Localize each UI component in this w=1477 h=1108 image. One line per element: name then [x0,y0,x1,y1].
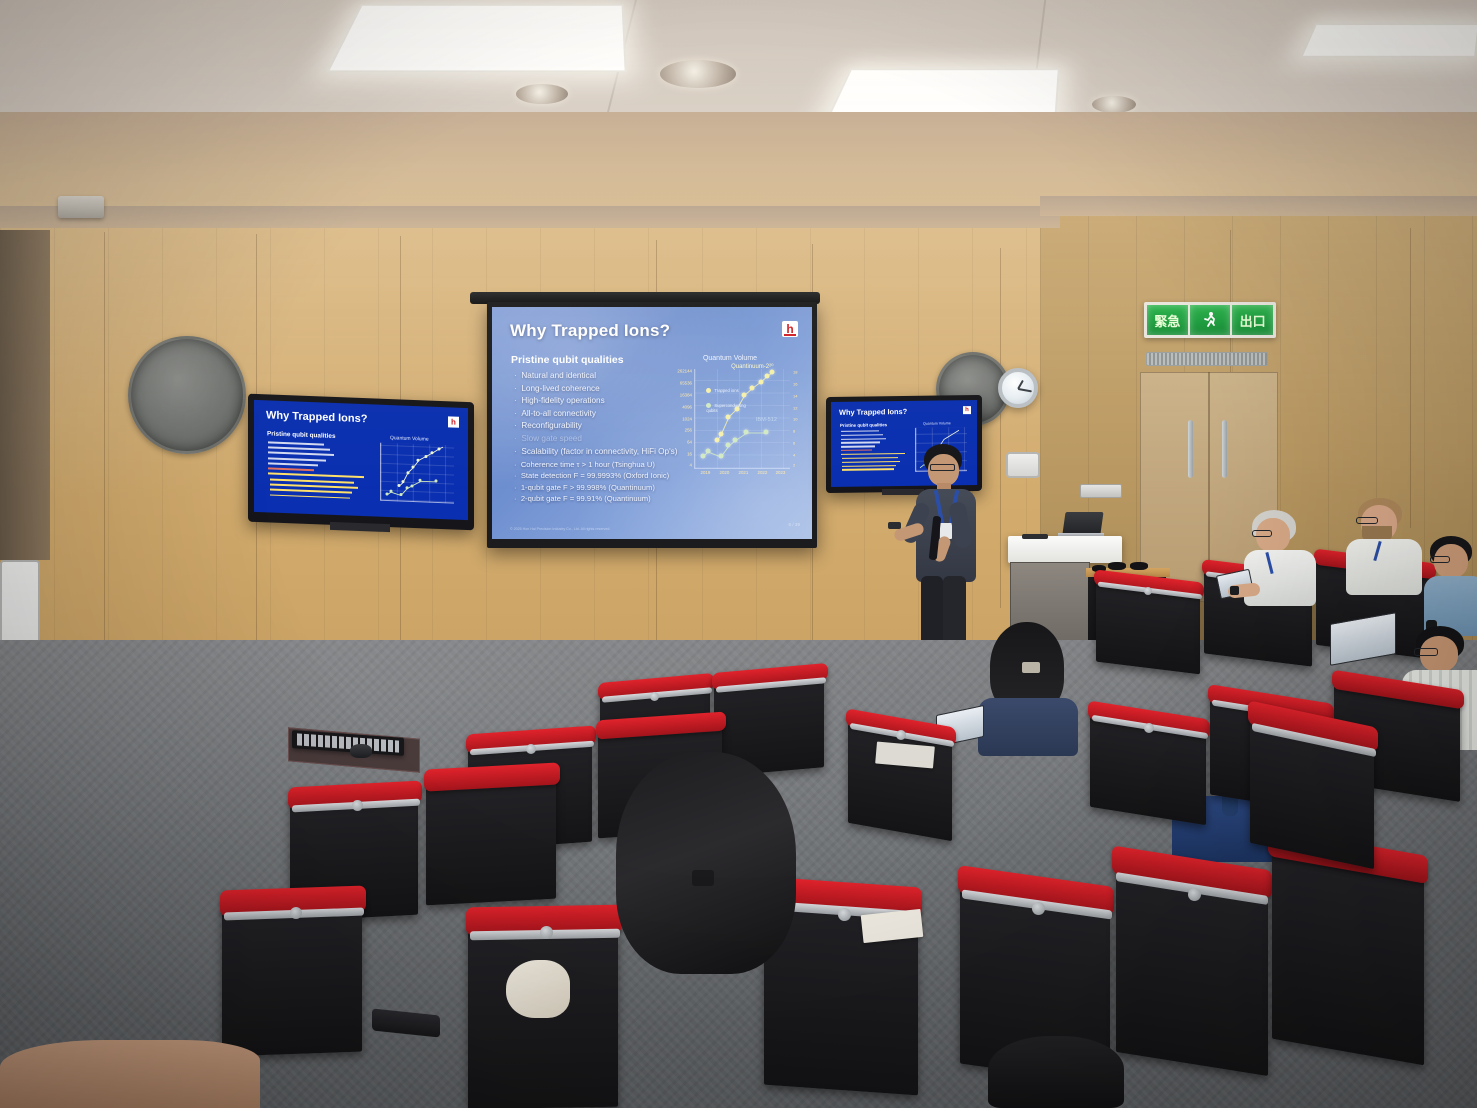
exit-sign-text-left: 緊急 [1147,305,1188,335]
audience-member-1 [1242,510,1332,620]
x-axis-tick: 2021 [739,470,749,475]
seat-back[interactable] [1272,849,1424,1066]
foreground-attendee [596,752,846,1012]
annotation-quantinuum: Quantinuum-2²⁰ [731,363,773,370]
bullet-item: All-to-all connectivity [514,408,677,421]
slide-title: Why Trapped Ions? [510,321,670,341]
bullet-item: Long-lived coherence [514,383,677,396]
wall-clock [998,368,1038,408]
left-tv-subtitle: Pristine qubit qualities [267,430,336,440]
y-axis-tick: 4 [690,463,692,468]
bullet-item: Scalability (factor in connectivity, HiF… [514,446,677,459]
podium-surface [1008,536,1122,563]
ceiling-light-panel [1300,24,1477,58]
foreground-hair-bottom [988,1036,1124,1108]
exit-sign-running-man-icon [1190,305,1231,335]
seat-button[interactable] [352,800,363,811]
exit-sign-text-right: 出口 [1232,305,1273,335]
y-axis-tick: 256 [685,428,692,433]
y-axis-right-tick: 2 [793,463,795,468]
audience-glasses [1356,517,1378,524]
wall-outlet-plate[interactable] [1080,484,1122,498]
left-tv-series-lines [381,443,455,504]
data-point-trapped-ions [714,438,719,443]
y-axis-tick: 4096 [682,404,692,409]
right-tv-spec-block [842,457,900,470]
slide-specs-list: Coherence time τ > 1 hour (Tsinghua U) S… [514,459,669,505]
podium-device[interactable] [1022,534,1048,539]
audience-glasses [1252,530,1272,537]
data-point-trapped-ions [750,385,755,390]
left-wall-column [0,230,50,560]
air-vent-grille [1146,352,1268,366]
audience-torso [1346,539,1422,595]
seat-button[interactable] [1032,902,1045,915]
recessed-downlight [660,60,736,88]
foreground-attendee-bottom [988,1036,1124,1108]
y-axis-right-tick: 6 [793,441,795,446]
right-tv-slide-title: Why Trapped Ions? [839,407,907,417]
quantum-volume-chart: Quantum Volume 262144 65536 16384 4096 1… [660,355,800,487]
foreground-hair [616,752,796,974]
seat-back[interactable] [222,902,362,1057]
left-tv-slide-title: Why Trapped Ions? [266,409,367,425]
wall-speaker-left [128,336,246,454]
clock-minute-hand [1018,388,1032,392]
left-tv-screen: Why Trapped Ions? h Pristine qubit quali… [254,400,468,520]
spec-item: State detection F = 99.9993% (Oxford Ion… [514,470,669,481]
y-axis-tick: 16384 [680,392,692,397]
recessed-downlight [516,84,568,104]
door-handle-left[interactable] [1188,420,1193,478]
seat-row-right-edge[interactable] [1250,700,1477,860]
left-tv-spec-block [270,479,358,500]
attendee-sneaker [506,960,570,1018]
x-axis-tick: 2022 [758,470,768,475]
legend-label: Trapped ions [714,388,738,393]
wall-seam [1410,228,1411,528]
y-axis-right-tick: 18 [793,369,797,374]
y-axis-right-tick: 12 [793,405,797,410]
data-point-trapped-ions [769,369,774,374]
data-point-trapped-ions [718,432,723,437]
auditorium-scene: 緊急 出口 Why Trapped Ions? h Pristine qubi [0,0,1477,1108]
hon-hai-logo: h [782,321,798,337]
projection-screen: Why Trapped Ions? h Pristine qubit quali… [492,307,812,539]
presenter-clicker [888,522,901,529]
left-tv-chart-plot [380,443,454,504]
slide-page-number: 6 / 39 [789,522,801,527]
legend-swatch-trapped-ions [706,388,711,393]
legend-trapped-ions: Trapped ions [706,388,738,393]
y-axis-right-tick: 16 [793,381,797,386]
right-tv-logo-letter: h [965,407,969,413]
seat-button[interactable] [526,744,536,754]
control-mouse[interactable] [350,744,372,758]
y-axis-tick: 1024 [682,416,692,421]
y-axis-right-tick: 8 [793,429,795,434]
chart-plot-area: 262144 65536 16384 4096 1024 256 64 16 4… [694,369,790,469]
foreground-hair-clip [692,870,714,886]
slide-why-trapped-ions: Why Trapped Ions? h Pristine qubit quali… [492,307,812,539]
bullet-item: High-fidelity operations [514,395,677,408]
right-tv-logo: h [963,406,971,414]
seat-button[interactable] [1144,587,1152,595]
wall-soffit [0,206,1060,228]
seat-button[interactable] [290,907,302,919]
legend-superconducting: Superconducting qubits [706,403,750,413]
x-axis-tick: 2020 [720,470,730,475]
data-point-superconducting [726,443,731,448]
left-tv-chart-title: Quantum Volume [390,435,429,442]
logo-bar [784,334,797,336]
right-tv-chart-title: Quantum Volume [923,421,951,425]
y-axis-tick: 65536 [680,380,692,385]
x-axis-tick: 2019 [701,470,711,475]
left-tv-logo-letter: h [451,417,456,426]
ceiling-light-panel [327,4,627,72]
seat-button[interactable] [540,926,553,939]
y-axis-tick: 16 [687,452,692,457]
bullet-item: Reconfigurability [514,420,677,433]
y-axis-tick: 262144 [677,368,692,373]
annotation-ibm: IBM-512 [756,417,777,423]
bullet-item: Natural and identical [514,370,677,383]
right-tv-subtitle: Pristine qubit qualities [840,422,887,428]
wall-control-panel[interactable] [1006,452,1040,478]
foreground-attendee-bottom-left [0,1040,260,1108]
foreground-shoulder [0,1040,260,1108]
seat-armrest [372,1008,440,1037]
emergency-exit-sign: 緊急 出口 [1144,302,1276,338]
audience-glasses [1414,648,1438,656]
hair-clip [1022,662,1040,673]
bullet-item-dimmed: Slow gate speed [514,433,677,446]
wall-mounted-speaker-small [58,196,104,218]
recessed-downlight [1092,96,1136,113]
data-point-trapped-ions [765,373,770,378]
data-point-trapped-ions [758,379,763,384]
wall-soffit-right [1040,196,1477,216]
podium-laptop-lid [1062,512,1103,534]
slide-bullet-list: Natural and identical Long-lived coheren… [514,370,677,458]
audience-watch [1230,586,1239,595]
audience-glasses [1430,556,1450,563]
data-point-superconducting [744,430,749,435]
data-point-superconducting [764,430,769,435]
presenter-glasses [930,464,955,471]
y-axis-tick: 64 [687,440,692,445]
left-tv-logo: h [448,416,459,427]
spec-item: 1-qubit gate F > 99.998% (Quantinuum) [514,482,669,493]
left-tv-bullet-block [268,441,364,478]
legend-label: Superconducting qubits [706,403,745,413]
data-point-trapped-ions [726,414,731,419]
x-axis-tick: 2023 [776,470,786,475]
data-point-superconducting [718,454,723,459]
slide-footer: © 2025 Hon Hai Precision Industry Co., L… [510,527,610,531]
data-point-superconducting [700,454,705,459]
audience-torso [1244,550,1316,606]
y-axis-right-tick: 4 [793,453,795,458]
spec-item: 2-qubit gate F = 99.91% (Quantinuum) [514,493,669,504]
data-point-trapped-ions [742,392,747,397]
y-axis-right-tick: 10 [793,417,797,422]
data-point-superconducting [706,449,711,454]
seat-button[interactable] [1188,888,1201,901]
seat-button[interactable] [650,692,659,701]
spec-item: Coherence time τ > 1 hour (Tsinghua U) [514,459,669,470]
door-handle-right[interactable] [1222,420,1227,478]
chart-title: Quantum Volume [660,355,800,362]
slide-subtitle: Pristine qubit qualities [511,354,624,366]
y-axis-right-tick: 14 [793,393,797,398]
data-point-superconducting [732,438,737,443]
